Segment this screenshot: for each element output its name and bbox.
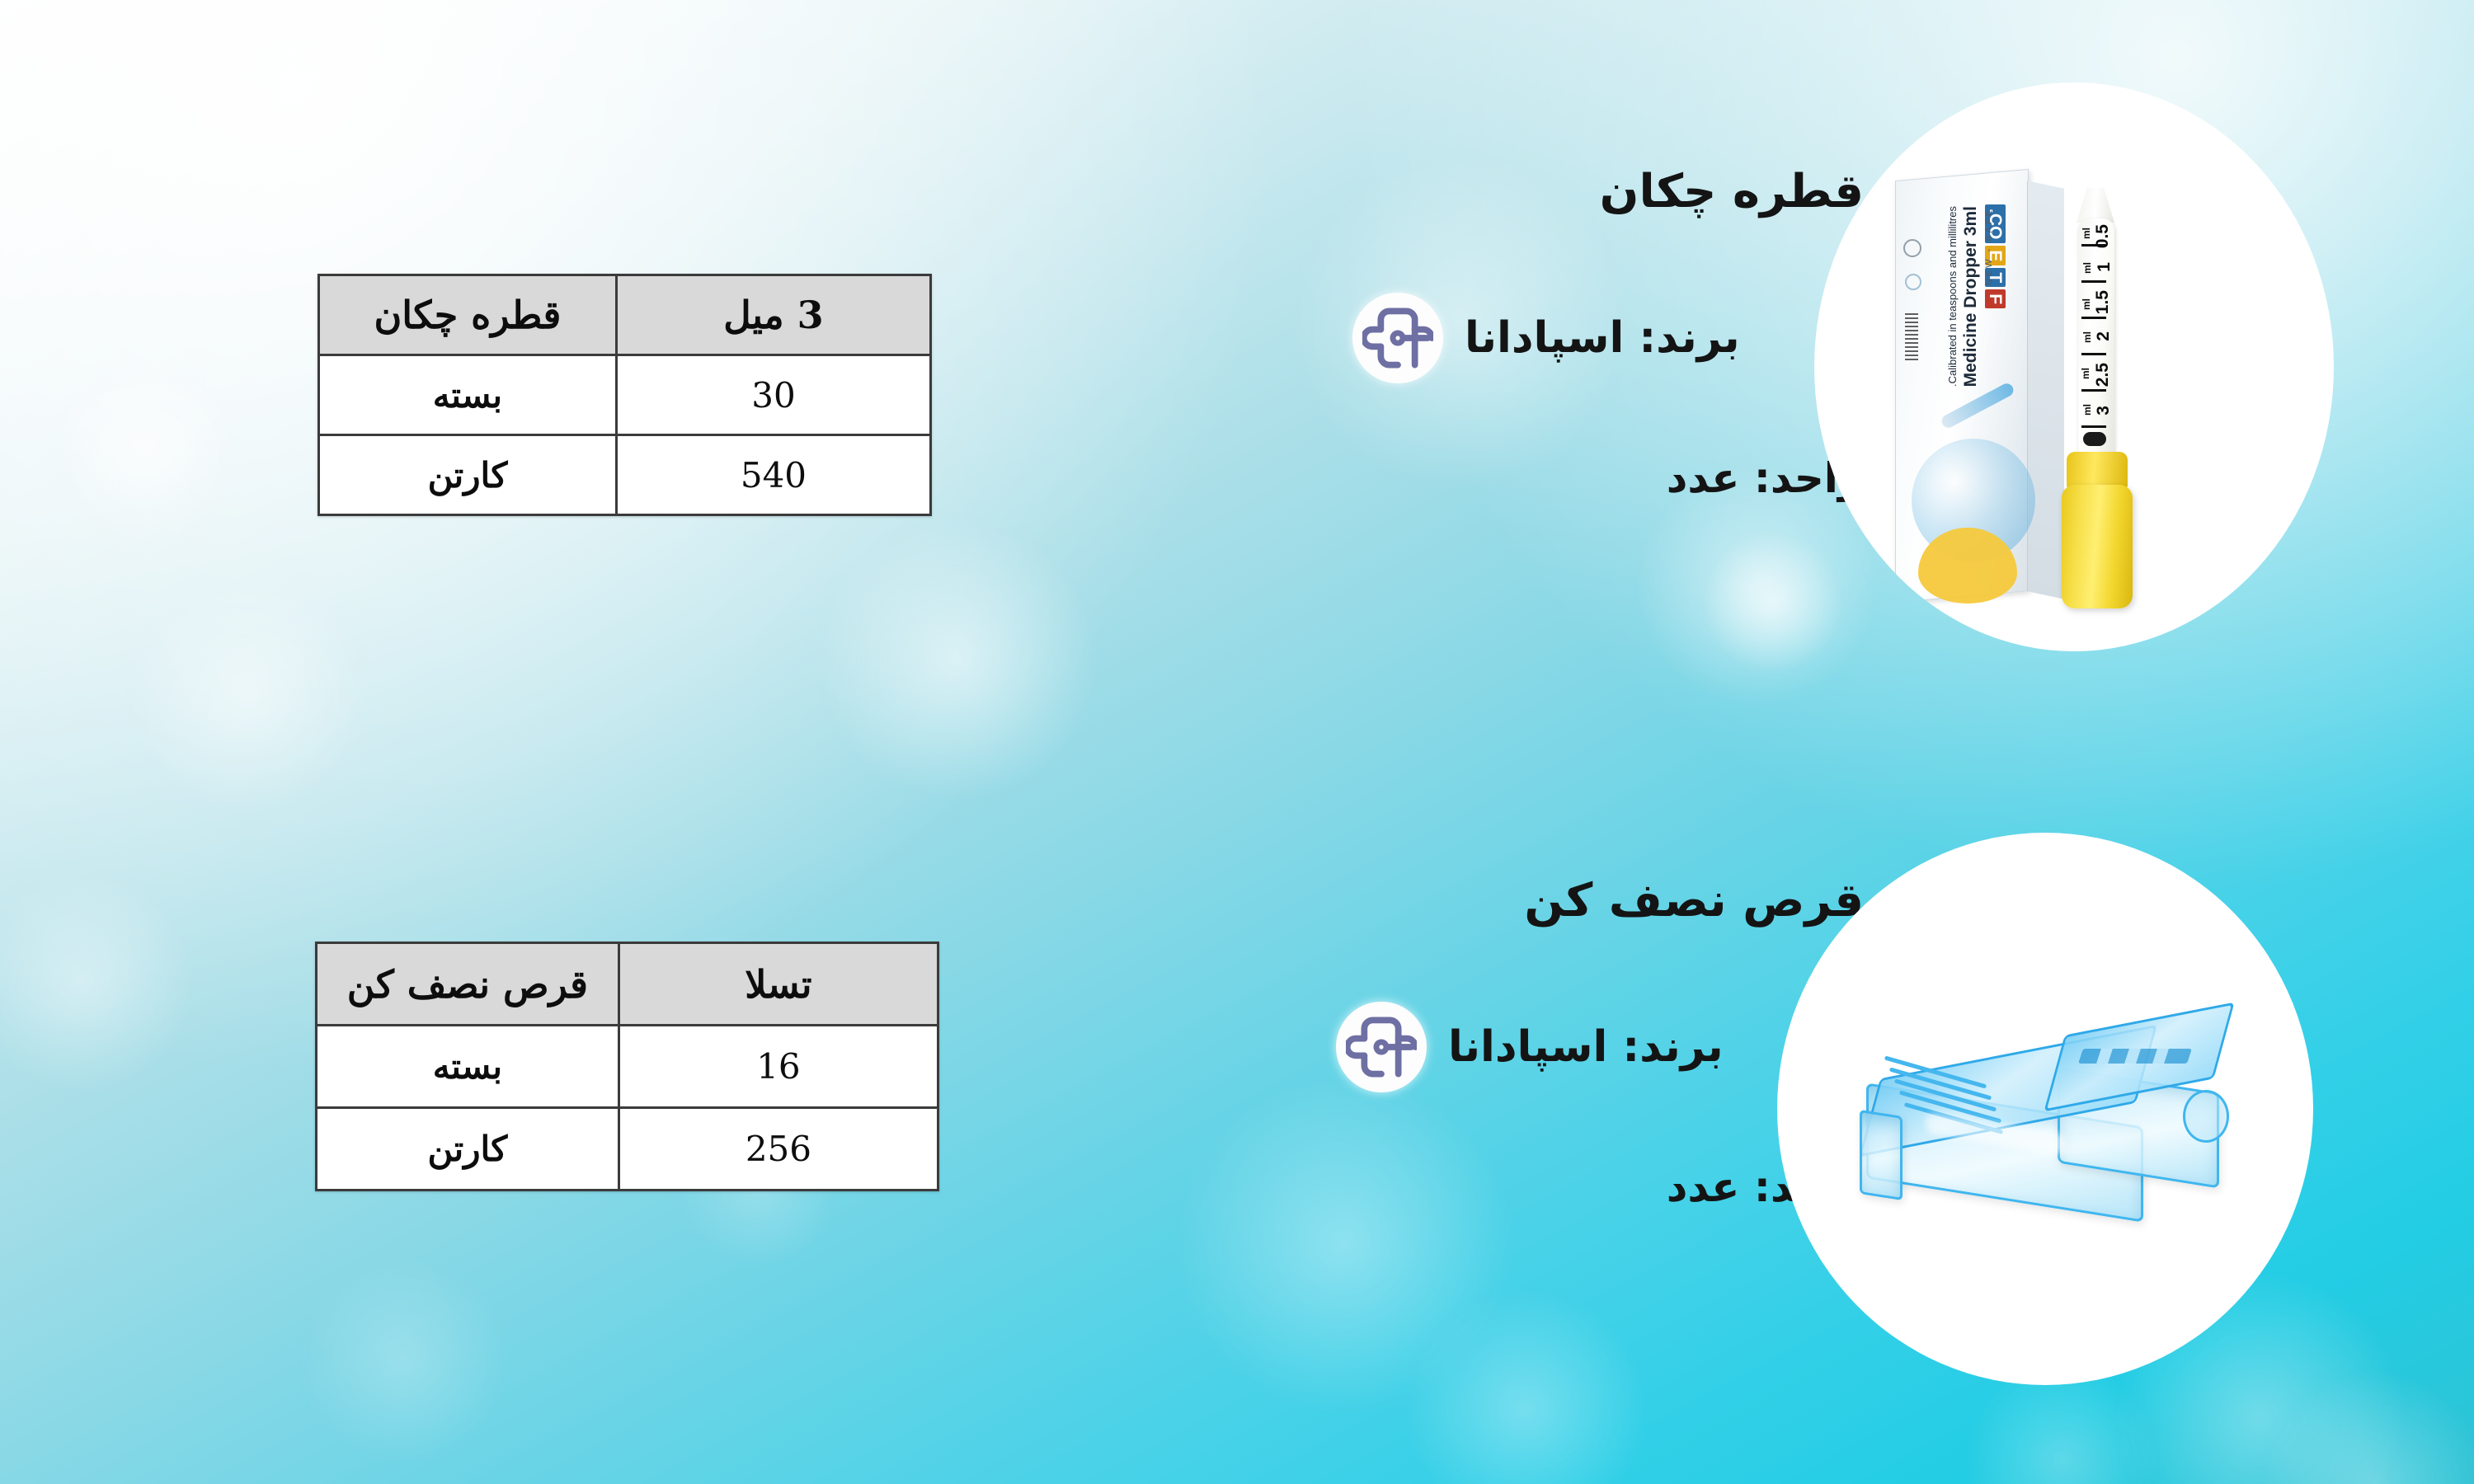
- product-title: قطره چکان: [1352, 165, 1864, 218]
- table-row: 30 بسته: [319, 355, 931, 435]
- table-header-row: تسلا قرص نصف کن: [317, 943, 938, 1026]
- table-cell-label: کارتن: [317, 1108, 619, 1190]
- product-unit: واحد: عدد: [1352, 454, 1864, 502]
- product-brand: برند: اسپادانا: [1448, 1022, 1724, 1072]
- pharmacy-cross-logo-icon: [1352, 293, 1443, 383]
- table-cell-value: 30: [616, 355, 930, 435]
- bokeh-blob: [124, 569, 371, 816]
- bokeh-blob: [297, 1253, 511, 1468]
- table-header-label: قرص نصف کن: [317, 943, 619, 1026]
- carton-line-2: Calibrated in teaspoons and millilitres.: [1946, 206, 1959, 387]
- table-cell-label: بسته: [317, 1026, 619, 1108]
- bokeh-blob: [2260, 1369, 2474, 1484]
- dropper-tick: [2081, 389, 2106, 392]
- carton-symbol-mark: [1903, 239, 1921, 257]
- dropper-mark-unit: ml: [2081, 298, 2092, 310]
- dropper-bulb: [2062, 485, 2133, 608]
- product-table-dropper: 3 میل قطره چکان 30 بسته 540 کارتن: [317, 274, 932, 516]
- product-info-dropper: قطره چکان برند: اسپادانا: [1352, 165, 1864, 502]
- table-cell-label: کارتن: [319, 435, 617, 515]
- dropper-mark: 0.5: [2093, 224, 2113, 248]
- table-cell-value: 16: [618, 1026, 938, 1108]
- dropper-tick: [2081, 317, 2106, 319]
- catalog-slide: 3 میل قطره چکان 30 بسته 540 کارتن قطره چ…: [0, 0, 2474, 1484]
- dropper-tick: [2081, 280, 2106, 283]
- dropper-mark: 3: [2094, 406, 2114, 416]
- brand-letter: F: [1985, 289, 2006, 308]
- pill-splitter-illustration: [1777, 833, 2313, 1385]
- product-brand-row: برند: اسپادانا: [1352, 293, 1864, 383]
- table-row: 256 کارتن: [317, 1108, 938, 1190]
- product-photo-alt: قطره چکان 3 میلی لیتری به همراه جعبه: [2333, 82, 2334, 83]
- product-photo-dropper: قطره چکان 3 میلی لیتری به همراه جعبه F T…: [1814, 82, 2334, 651]
- dropper-mark: 1.5: [2093, 290, 2113, 314]
- dropper-seal-mark: [2083, 432, 2106, 446]
- bokeh-blob: [1699, 528, 1847, 676]
- dropper-mark-unit: ml: [2081, 228, 2092, 239]
- dropper-mark-unit: ml: [2081, 331, 2093, 343]
- dropper-carton-side: [2027, 181, 2064, 599]
- bokeh-blob: [0, 866, 198, 1097]
- splitter-end-cap: [1860, 1110, 1903, 1200]
- table-header-value: 3 میل: [616, 275, 930, 355]
- bokeh-blob: [808, 511, 1105, 808]
- product-brand: برند: اسپادانا: [1465, 313, 1740, 363]
- table-cell-label: بسته: [319, 355, 617, 435]
- table-header-label: قطره چکان: [319, 275, 617, 355]
- table-row: 16 بسته: [317, 1026, 938, 1108]
- dropper-mark: 2.5: [2093, 363, 2113, 387]
- table-cell-value: 256: [618, 1108, 938, 1190]
- product-photo-pill-splitter: قرص نصف کن پلاستیکی شفاف آبی با درب لولا…: [1777, 833, 2313, 1385]
- dropper-mark: 1: [2095, 262, 2114, 272]
- bokeh-blob: [49, 355, 239, 544]
- bokeh-blob: [1402, 1286, 1649, 1484]
- pharmacy-cross-logo-icon: [1336, 1002, 1427, 1092]
- product-table-pill-splitter: تسلا قرص نصف کن 16 بسته 256 کارتن: [315, 942, 939, 1191]
- table-header-row: 3 میل قطره چکان: [319, 275, 931, 355]
- dropper-mark: 2: [2094, 331, 2114, 341]
- table-row: 540 کارتن: [319, 435, 931, 515]
- splitter-hinge: [2183, 1090, 2229, 1143]
- carton-barcode: [1905, 313, 1918, 361]
- table-header-value: تسلا: [618, 943, 938, 1026]
- dropper-mark-unit: ml: [2080, 368, 2091, 379]
- table-cell-value: 540: [616, 435, 930, 515]
- dropper-tick: [2081, 353, 2106, 355]
- carton-tagline: NEW - SAFE: [1984, 208, 1994, 285]
- dropper-tick: [2081, 425, 2106, 428]
- carton-symbol-mark: [1905, 274, 1921, 290]
- dropper-mark-unit: ml: [2081, 404, 2093, 416]
- dropper-mark-unit: ml: [2081, 262, 2093, 274]
- dropper-tip: [2077, 188, 2114, 223]
- carton-line-1: Medicine Dropper 3ml: [1961, 206, 1981, 387]
